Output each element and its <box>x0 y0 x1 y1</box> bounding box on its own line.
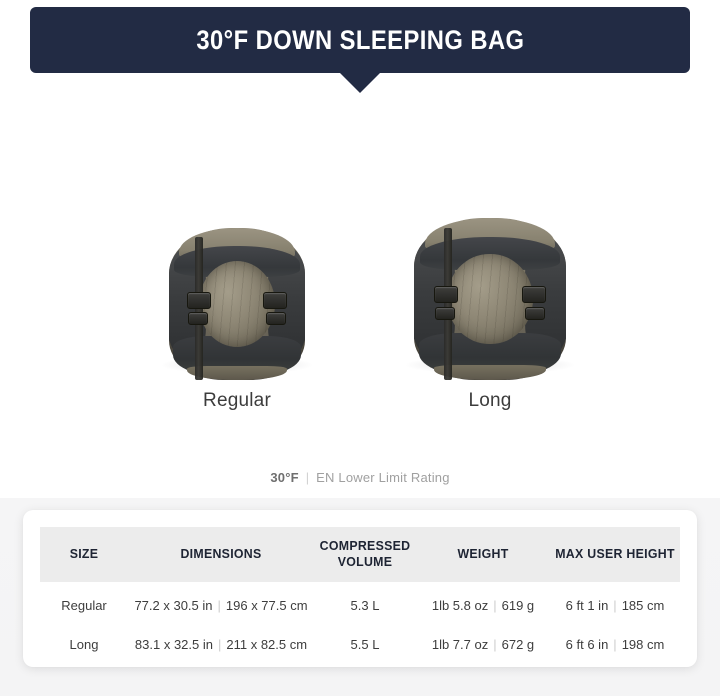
product-image-regular <box>147 200 327 380</box>
spec-table: SIZE DIMENSIONS COMPRESSED VOLUME WEIGHT… <box>40 527 680 664</box>
cell-weight: 1lb 7.7 oz|672 g <box>416 625 550 664</box>
unit-separator: | <box>608 637 621 652</box>
weight-metric: 619 g <box>502 598 535 613</box>
buckle-right-icon <box>522 286 546 303</box>
weight-imperial: 1lb 5.8 oz <box>432 598 488 613</box>
table-row: Long 83.1 x 32.5 in|211 x 82.5 cm 5.5 L … <box>40 625 680 664</box>
buckle-right-lower-icon <box>525 307 545 320</box>
column-header-compressed-volume: COMPRESSED VOLUME <box>317 527 414 582</box>
cell-max-user-height: 6 ft 6 in|198 cm <box>550 625 680 664</box>
rating-separator: | <box>306 470 309 485</box>
cell-size: Regular <box>40 582 128 625</box>
unit-separator: | <box>213 637 226 652</box>
height-imperial: 6 ft 6 in <box>566 637 609 652</box>
dimensions-metric: 211 x 82.5 cm <box>226 637 307 652</box>
unit-separator: | <box>488 598 501 613</box>
cell-compressed-volume: 5.3 L <box>314 582 416 625</box>
compression-strap <box>444 228 452 380</box>
product-label-regular: Regular <box>147 390 327 412</box>
dimensions-imperial: 77.2 x 30.5 in <box>134 598 212 613</box>
weight-metric: 672 g <box>502 637 535 652</box>
spec-table-body: Regular 77.2 x 30.5 in|196 x 77.5 cm 5.3… <box>40 582 680 664</box>
height-metric: 185 cm <box>622 598 665 613</box>
cell-compressed-volume: 5.5 L <box>314 625 416 664</box>
rating-temperature: 30°F <box>270 470 298 485</box>
weight-imperial: 1lb 7.7 oz <box>432 637 488 652</box>
cell-max-user-height: 6 ft 1 in|185 cm <box>550 582 680 625</box>
buckle-left-lower-icon <box>435 307 455 320</box>
compression-sack-icon <box>169 228 305 380</box>
unit-separator: | <box>608 598 621 613</box>
product-long[interactable]: Long <box>398 200 582 412</box>
cell-dimensions: 83.1 x 32.5 in|211 x 82.5 cm <box>128 625 314 664</box>
spec-table-header: SIZE DIMENSIONS COMPRESSED VOLUME WEIGHT… <box>40 527 680 582</box>
product-regular[interactable]: Regular <box>147 200 327 412</box>
table-header-row: SIZE DIMENSIONS COMPRESSED VOLUME WEIGHT… <box>40 527 680 582</box>
spec-card: SIZE DIMENSIONS COMPRESSED VOLUME WEIGHT… <box>23 510 697 667</box>
buckle-left-icon <box>187 292 211 309</box>
dimensions-imperial: 83.1 x 32.5 in <box>135 637 213 652</box>
compression-sack-icon <box>414 218 566 380</box>
product-gallery: Regular Long <box>0 200 720 435</box>
en-rating-line: 30°F|EN Lower Limit Rating <box>0 470 720 485</box>
buckle-right-icon <box>263 292 287 309</box>
product-label-long: Long <box>398 390 582 412</box>
buckle-right-lower-icon <box>266 312 286 325</box>
column-header-size: SIZE <box>42 527 126 582</box>
rating-description: EN Lower Limit Rating <box>316 470 450 485</box>
page-title: 30°F Down Sleeping Bag <box>196 25 524 56</box>
column-header-max-user-height: MAX USER HEIGHT <box>553 527 677 582</box>
unit-separator: | <box>488 637 501 652</box>
unit-separator: | <box>213 598 226 613</box>
buckle-left-lower-icon <box>188 312 208 325</box>
cell-size: Long <box>40 625 128 664</box>
height-imperial: 6 ft 1 in <box>566 598 609 613</box>
column-header-dimensions: DIMENSIONS <box>133 527 310 582</box>
column-header-weight: WEIGHT <box>419 527 546 582</box>
banner-pointer-triangle <box>339 72 381 93</box>
cell-weight: 1lb 5.8 oz|619 g <box>416 582 550 625</box>
banner-box: 30°F Down Sleeping Bag <box>30 7 690 73</box>
sack-center-panel <box>447 254 532 345</box>
dimensions-metric: 196 x 77.5 cm <box>226 598 308 613</box>
buckle-left-icon <box>434 286 458 303</box>
product-image-long <box>398 200 582 380</box>
height-metric: 198 cm <box>622 637 665 652</box>
table-row: Regular 77.2 x 30.5 in|196 x 77.5 cm 5.3… <box>40 582 680 625</box>
cell-dimensions: 77.2 x 30.5 in|196 x 77.5 cm <box>128 582 314 625</box>
header-banner: 30°F Down Sleeping Bag <box>0 7 720 97</box>
